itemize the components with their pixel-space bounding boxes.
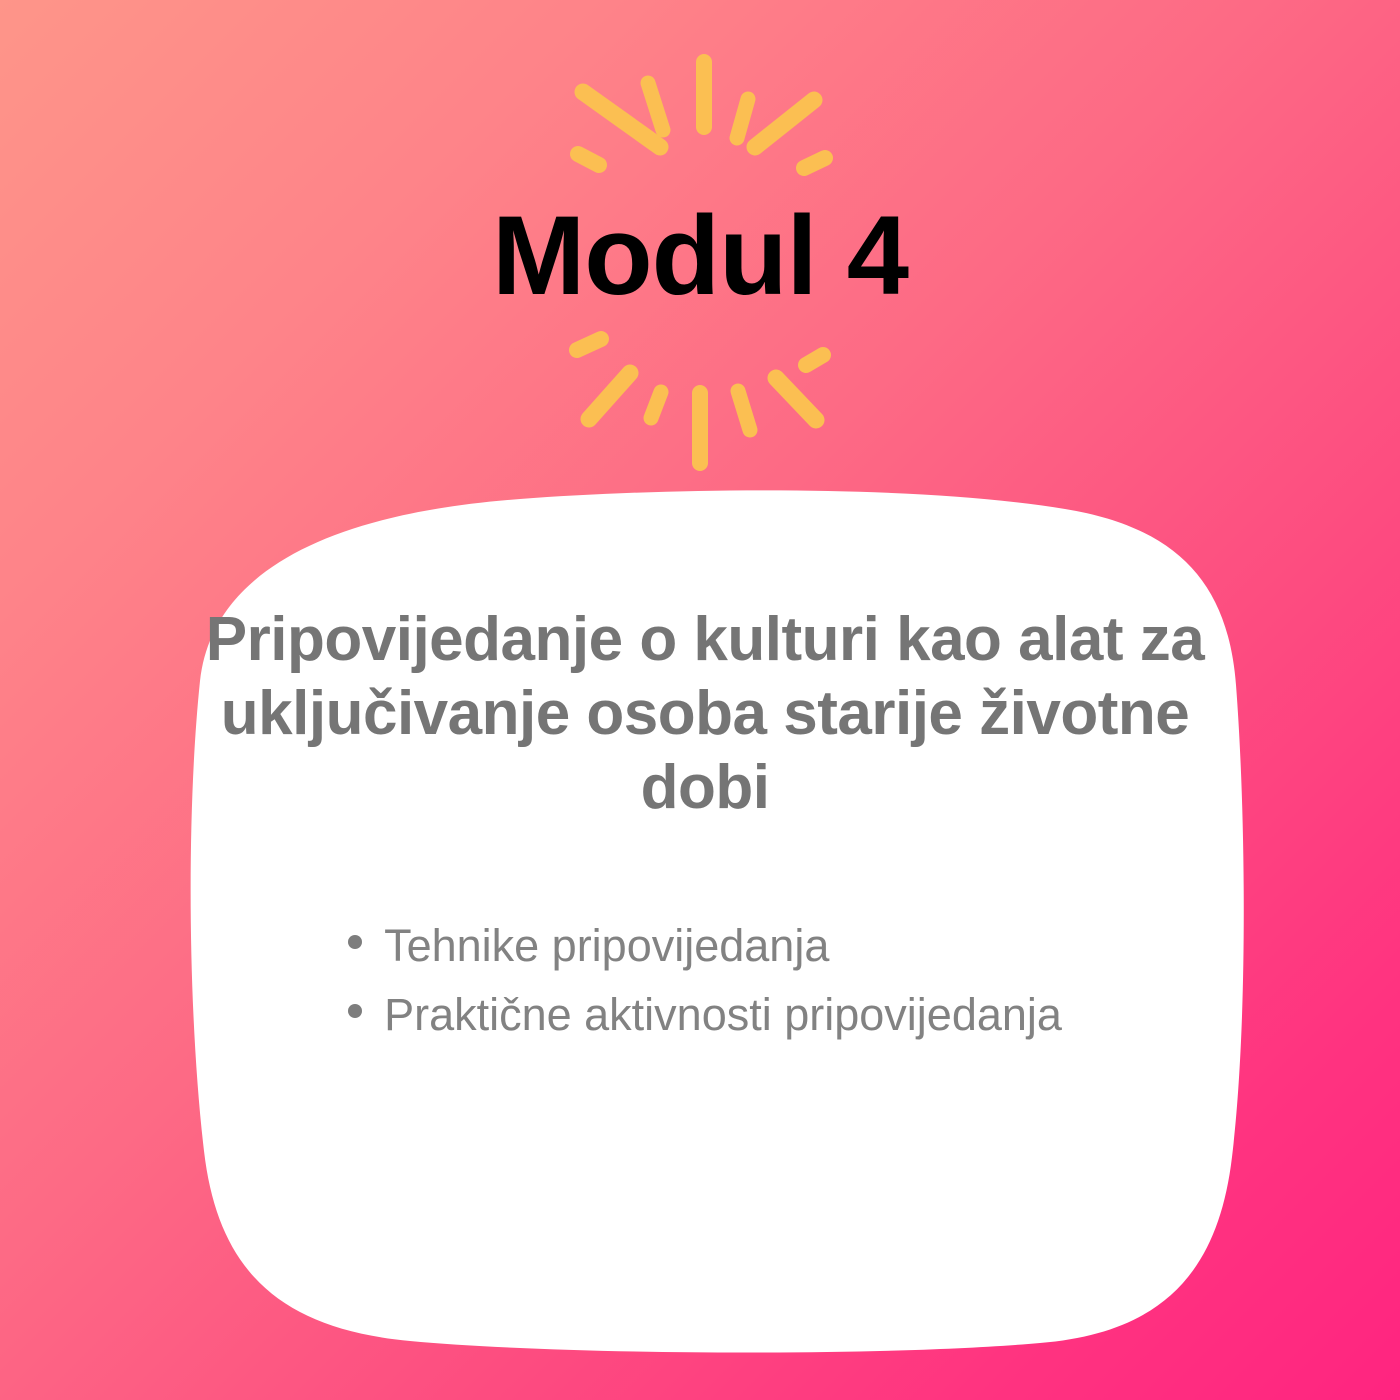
ray-icon (583, 92, 660, 147)
topics-list: Tehnike pripovijedanja Praktične aktivno… (180, 912, 1230, 1049)
card-content: Pripovijedanje o kulturi kao alat za ukl… (160, 485, 1250, 1355)
bullet-dot-icon (348, 1004, 362, 1018)
list-item-label: Praktične aktivnosti pripovijedanja (384, 981, 1062, 1049)
slide-title: Modul 4 (0, 196, 1400, 317)
bullet-dot-icon (348, 935, 362, 949)
ray-icon (577, 339, 601, 350)
content-card: Pripovijedanje o kulturi kao alat za ukl… (160, 485, 1250, 1355)
ray-icon (737, 99, 748, 138)
list-item: Praktične aktivnosti pripovijedanja (348, 981, 1062, 1049)
ray-icon (651, 392, 661, 418)
ray-icon (578, 154, 599, 165)
card-heading: Pripovijedanje o kulturi kao alat za ukl… (180, 603, 1230, 824)
ray-icon (806, 355, 823, 365)
ray-icon (804, 158, 825, 168)
ray-icon (776, 378, 816, 420)
ray-icon (648, 83, 663, 130)
ray-icon (755, 100, 814, 147)
slide-canvas: Modul 4 Pripovijedanje o kulturi kao ala… (0, 0, 1400, 1400)
list-item-label: Tehnike pripovijedanja (384, 912, 829, 980)
ray-icon (738, 391, 750, 430)
ray-icon (589, 373, 630, 419)
topics-list-inner: Tehnike pripovijedanja Praktične aktivno… (348, 912, 1062, 1049)
list-item: Tehnike pripovijedanja (348, 912, 1062, 980)
